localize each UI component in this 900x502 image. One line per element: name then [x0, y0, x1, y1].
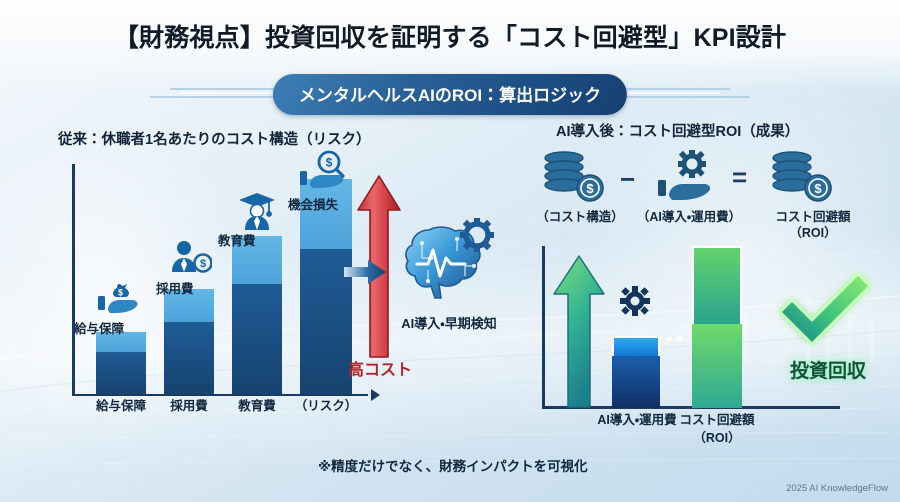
r-x-label-roi-line2: （ROI）	[656, 427, 778, 446]
roi-chart: AI導入・運用費 コスト回避額 （ROI） 投資回収	[534, 246, 890, 436]
bar-caption-salary: 給与保障	[74, 318, 124, 337]
right-section-heading: AI導入後：コスト回避型ROI（成果）	[556, 120, 799, 141]
person-coin-icon: $	[168, 240, 212, 276]
x-label-salary: 給与保障	[89, 395, 153, 414]
svg-text:$: $	[586, 181, 594, 196]
bar-caption-training: 教育費	[218, 230, 256, 249]
formula-label-cost-structure: （コスト構造）	[528, 206, 632, 225]
bar-ai-operating-cost	[612, 336, 660, 408]
hand-gear-icon	[656, 150, 720, 204]
bar-caption-opportunity-loss: 機会損失	[288, 194, 338, 213]
bar-salary: 給与保障	[96, 332, 146, 394]
svg-text:$: $	[200, 258, 206, 270]
left-section-heading: 従来：休職者1名あたりのコスト構造（リスク）	[58, 128, 371, 149]
coin-stack-icon: $	[538, 150, 608, 204]
right-arrow-icon	[344, 258, 386, 286]
formula-label-ai-cost: （AI導入・運用費）	[628, 206, 750, 225]
green-check-icon	[770, 262, 880, 358]
formula-label-roi-line2: （ROI）	[752, 222, 874, 241]
investment-recovery-label: 投資回収	[772, 356, 884, 383]
ai-brain-icon	[395, 218, 500, 310]
left-chart-y-axis	[72, 164, 75, 396]
money-bag-hand-icon: $	[96, 280, 142, 318]
subtitle-badge-container: メンタルヘルスAIのROI：算出ロジック	[0, 74, 900, 114]
subtitle-badge: メンタルヘルスAIのROI：算出ロジック	[273, 74, 627, 115]
minus-operator: −	[620, 164, 635, 195]
page-title: 【財務視点】投資回収を証明する「コスト回避型」KPI設計	[0, 18, 900, 54]
right-chart-y-axis	[542, 246, 545, 408]
svg-text:$: $	[326, 156, 333, 170]
bar-cost-avoidance-roi	[692, 246, 742, 408]
hand-magnifier-dollar-icon: $	[298, 150, 350, 194]
green-up-arrow-icon	[552, 254, 606, 409]
bar-training: 教育費	[232, 236, 282, 394]
bar-recruiting: 採用費	[164, 289, 214, 394]
footer-note: ※精度だけでなく、財務インパクトを可視化	[318, 455, 588, 475]
gear-icon	[460, 218, 494, 252]
gear-icon	[620, 286, 650, 316]
high-cost-label: 高コスト	[348, 356, 412, 380]
left-chart-axis-arrow	[371, 389, 380, 401]
graduate-icon	[236, 190, 278, 230]
copyright-text: 2025 AI KnowledgeFlow	[786, 483, 888, 494]
coin-stack-icon-result: $	[766, 150, 836, 204]
x-label-training: 教育費	[225, 395, 289, 414]
bar-caption-recruiting: 採用費	[156, 278, 194, 297]
svg-text:$: $	[814, 181, 822, 196]
svg-text:$: $	[118, 288, 123, 298]
legacy-cost-chart: 給与保障 $ 給与保障 採用費 $ 採用費 教育費 教育費 （リスク）	[60, 160, 380, 405]
x-label-risk: （リスク）	[292, 395, 360, 414]
r-x-label-roi-line1: コスト回避額	[656, 409, 778, 428]
x-label-recruiting: 採用費	[157, 395, 221, 414]
equals-operator: =	[732, 162, 747, 193]
roi-formula: $ − （コスト構造） = （AI導入・運用費） $ コスト回避額 （ROI）	[528, 150, 888, 230]
ai-detection-caption: AI導入・早期検知	[388, 313, 510, 332]
